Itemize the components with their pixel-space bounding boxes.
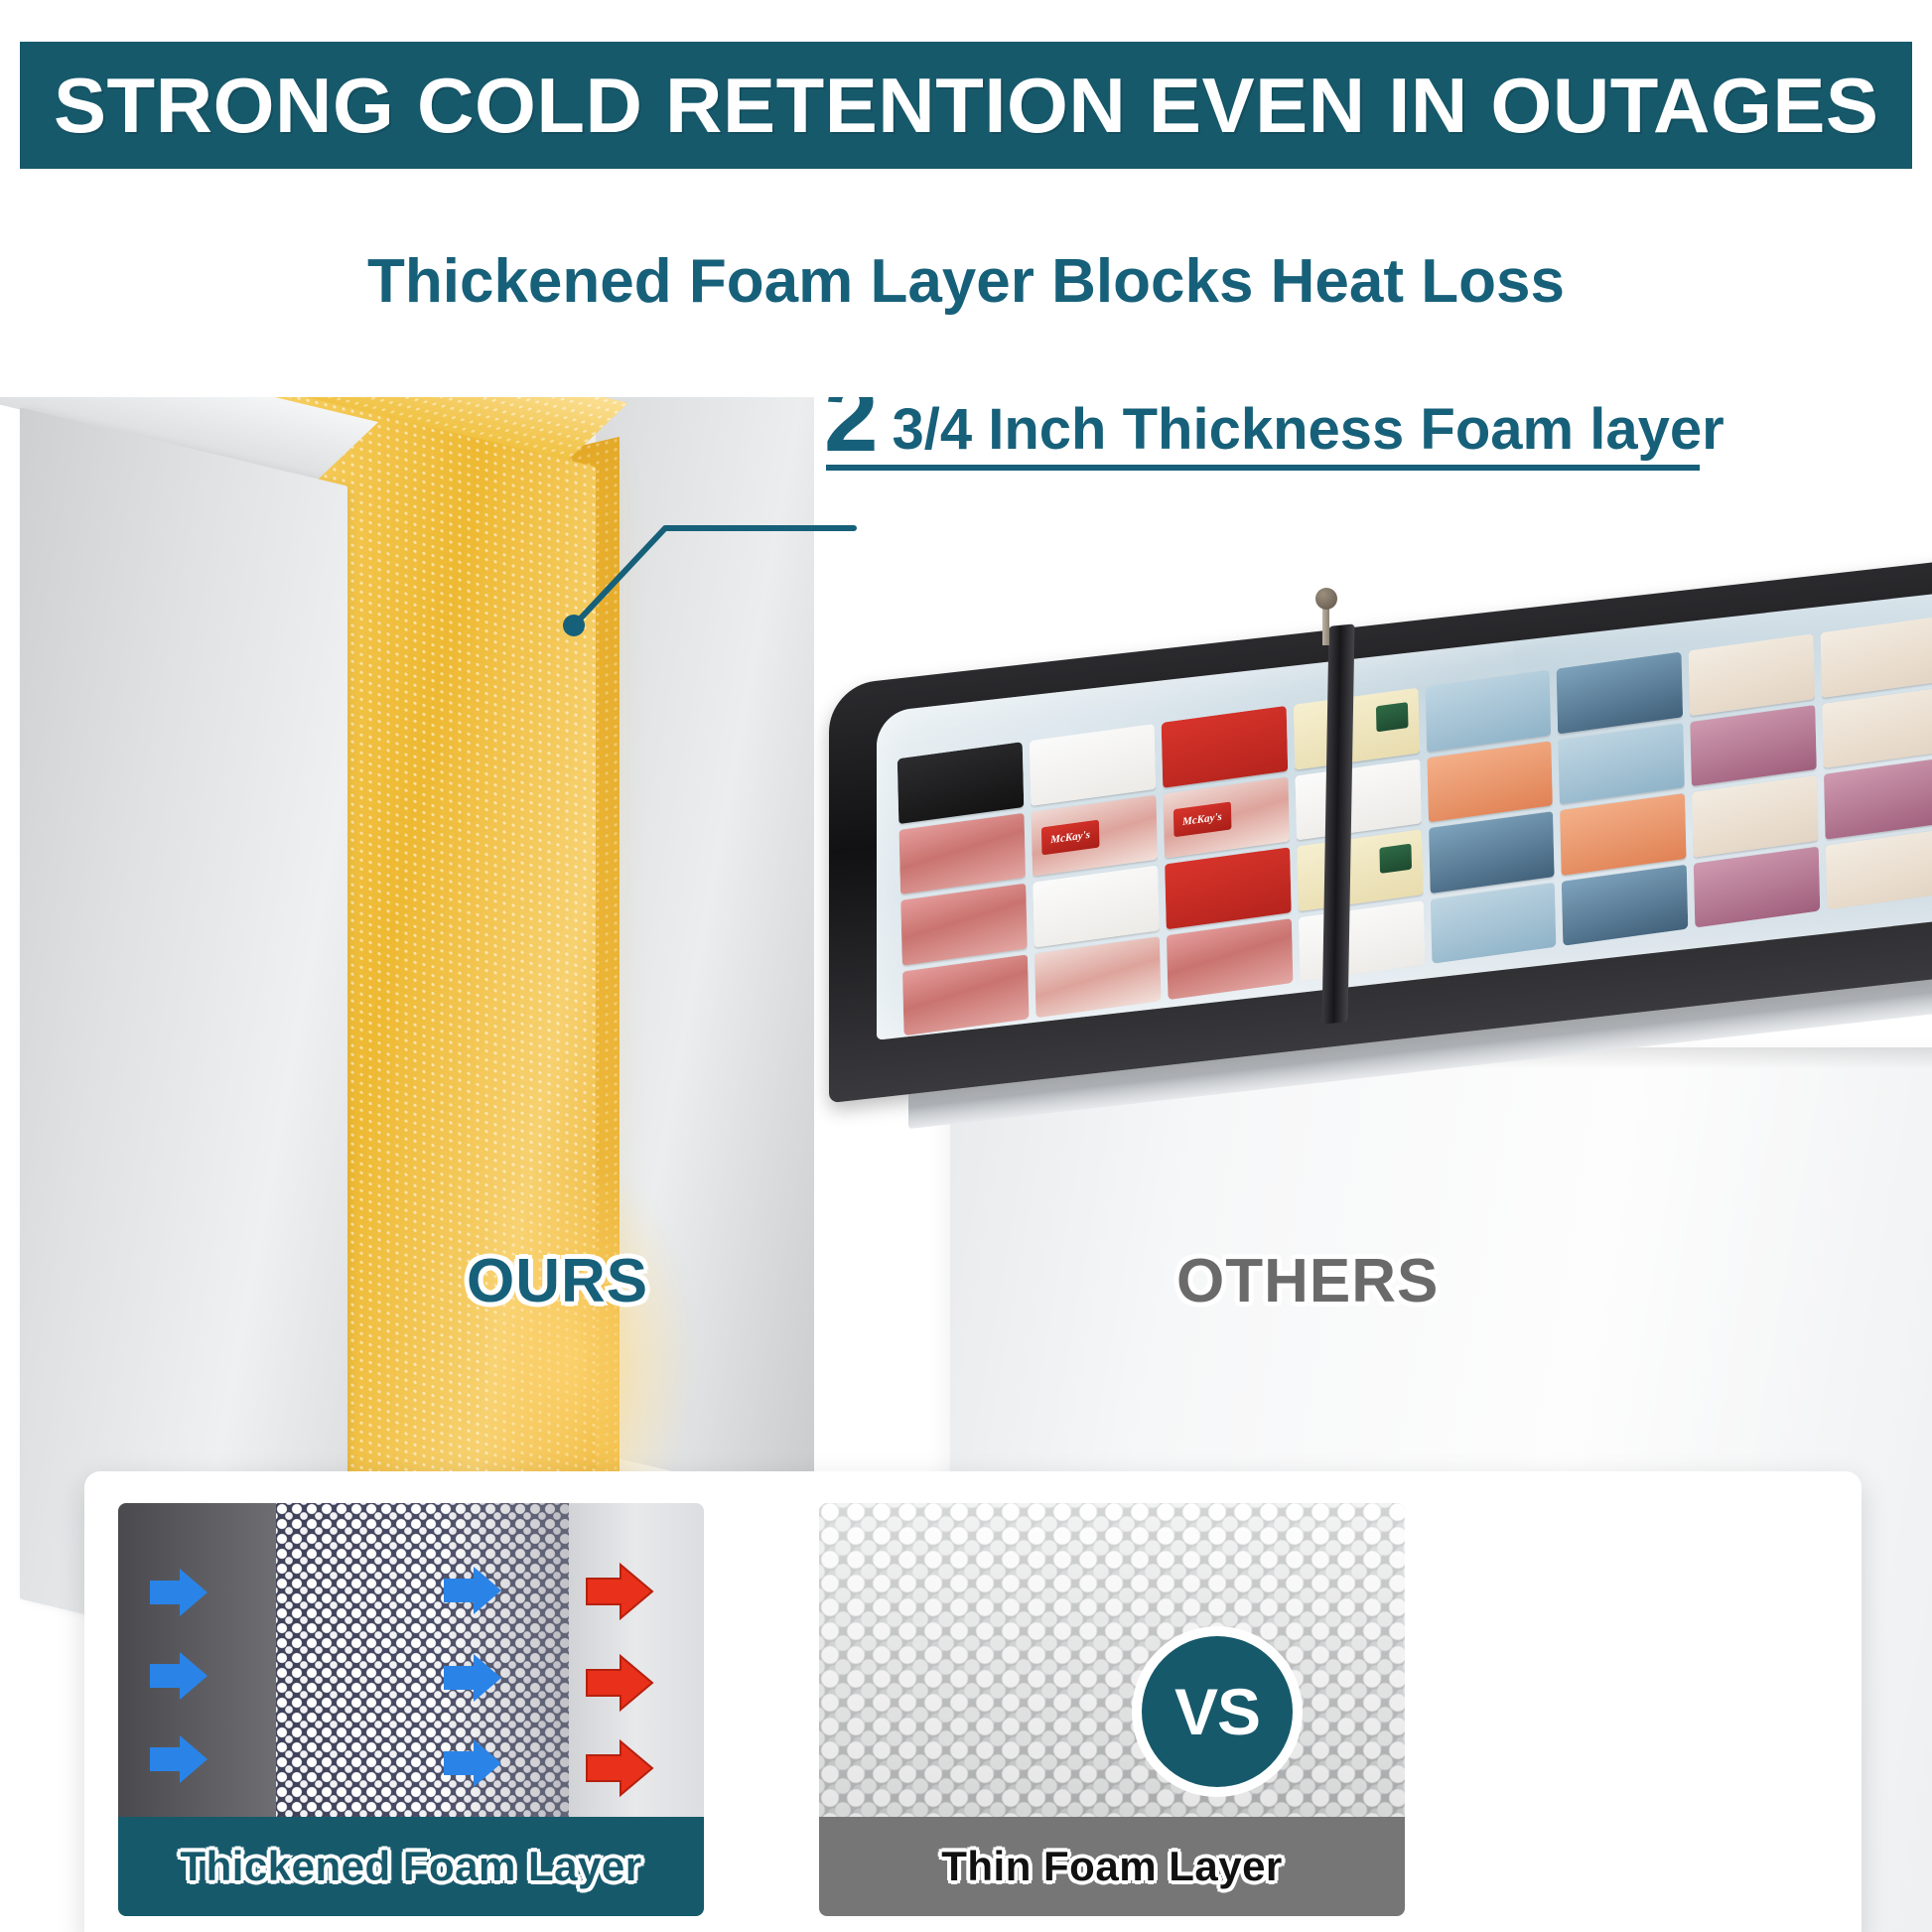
product-pack: McKay's bbox=[1163, 776, 1289, 858]
brand-label: McKay's bbox=[1173, 801, 1232, 838]
lock-knob-icon bbox=[1313, 588, 1339, 641]
blue-arrow-right-icon bbox=[442, 1652, 505, 1704]
product-pack bbox=[1427, 741, 1553, 822]
label-others: OTHERS bbox=[1176, 1246, 1439, 1316]
goods-column bbox=[1425, 670, 1557, 964]
product-pack bbox=[1690, 705, 1816, 786]
product-pack bbox=[1824, 758, 1932, 839]
product-pack bbox=[1430, 882, 1556, 963]
goods-column: McKay's bbox=[1161, 706, 1293, 1000]
blue-arrow-right-icon bbox=[148, 1733, 211, 1785]
callout-number: 2 bbox=[824, 397, 879, 457]
product-pack bbox=[1689, 633, 1815, 715]
caption-ours: Thickened Foam Layer bbox=[180, 1843, 641, 1890]
product-pack bbox=[1425, 670, 1551, 752]
caption-bar-ours: Thickened Foam Layer bbox=[118, 1817, 704, 1916]
mesh-foam-zone bbox=[276, 1503, 569, 1817]
bead-foam-texture bbox=[819, 1503, 1405, 1817]
comparison-card: Thickened Foam Layer Thin Foam Layer bbox=[84, 1471, 1862, 1932]
product-pack bbox=[1562, 864, 1688, 945]
thickness-callout: 2 3/4 Inch Thickness Foam layer bbox=[824, 397, 1698, 457]
comparison-panel-ours: Thickened Foam Layer bbox=[118, 1503, 704, 1916]
vs-badge: VS bbox=[1142, 1636, 1293, 1787]
goods-column: McKay's bbox=[1030, 724, 1162, 1018]
label-ours: OURS bbox=[467, 1246, 648, 1316]
blue-arrow-right-icon bbox=[442, 1737, 505, 1789]
product-pack bbox=[1826, 828, 1932, 909]
product-pack bbox=[1694, 846, 1820, 927]
blue-arrow-right-icon bbox=[442, 1565, 505, 1616]
comparison-panel-others: Thin Foam Layer bbox=[819, 1503, 1405, 1916]
lock-knob bbox=[1315, 588, 1337, 610]
product-pack bbox=[1035, 936, 1161, 1018]
blue-arrow-right-icon bbox=[148, 1650, 211, 1702]
product-pack bbox=[1297, 829, 1423, 910]
product-pack bbox=[1165, 847, 1291, 928]
product-pack bbox=[1559, 723, 1685, 804]
product-pack bbox=[1560, 793, 1686, 875]
callout-text: 3/4 Inch Thickness Foam layer bbox=[893, 402, 1725, 457]
product-scene: McKay's McKay's bbox=[0, 397, 1932, 1932]
brand-label: McKay's bbox=[1041, 819, 1100, 856]
product-pack bbox=[1429, 811, 1555, 893]
goods-column bbox=[1689, 633, 1821, 927]
product-pack: McKay's bbox=[1031, 794, 1157, 876]
red-arrow-right-icon bbox=[585, 1739, 656, 1797]
caption-bar-others: Thin Foam Layer bbox=[819, 1817, 1405, 1916]
goods-column bbox=[1557, 651, 1689, 945]
red-arrow-right-icon bbox=[585, 1563, 656, 1620]
organic-badge bbox=[1376, 702, 1409, 733]
product-pack bbox=[1030, 724, 1156, 805]
thickened-foam-illustration bbox=[118, 1503, 704, 1817]
product-pack bbox=[1298, 900, 1424, 982]
organic-badge bbox=[1379, 844, 1412, 875]
page-title: STRONG COLD RETENTION EVEN IN OUTAGES bbox=[54, 61, 1879, 151]
product-pack bbox=[1557, 651, 1683, 733]
goods-column bbox=[1821, 616, 1932, 909]
infographic-root: STRONG COLD RETENTION EVEN IN OUTAGES Th… bbox=[0, 0, 1932, 1932]
red-arrow-right-icon bbox=[585, 1654, 656, 1712]
callout-underline bbox=[826, 465, 1700, 471]
product-pack bbox=[1167, 918, 1293, 1000]
lock-stem bbox=[1322, 606, 1329, 645]
blue-arrow-right-icon bbox=[148, 1567, 211, 1618]
caption-others: Thin Foam Layer bbox=[941, 1843, 1283, 1890]
product-pack bbox=[1161, 706, 1287, 787]
subtitle: Thickened Foam Layer Blocks Heat Loss bbox=[0, 246, 1932, 317]
thin-foam-illustration bbox=[819, 1503, 1405, 1817]
header-banner: STRONG COLD RETENTION EVEN IN OUTAGES bbox=[20, 42, 1912, 169]
product-pack bbox=[1821, 616, 1932, 697]
product-pack bbox=[1293, 688, 1419, 769]
product-pack bbox=[1033, 866, 1159, 947]
product-pack bbox=[1692, 775, 1818, 857]
goods-column bbox=[1293, 688, 1425, 982]
vs-label: VS bbox=[1174, 1674, 1260, 1749]
product-pack bbox=[1295, 759, 1421, 840]
product-pack bbox=[1822, 686, 1932, 767]
